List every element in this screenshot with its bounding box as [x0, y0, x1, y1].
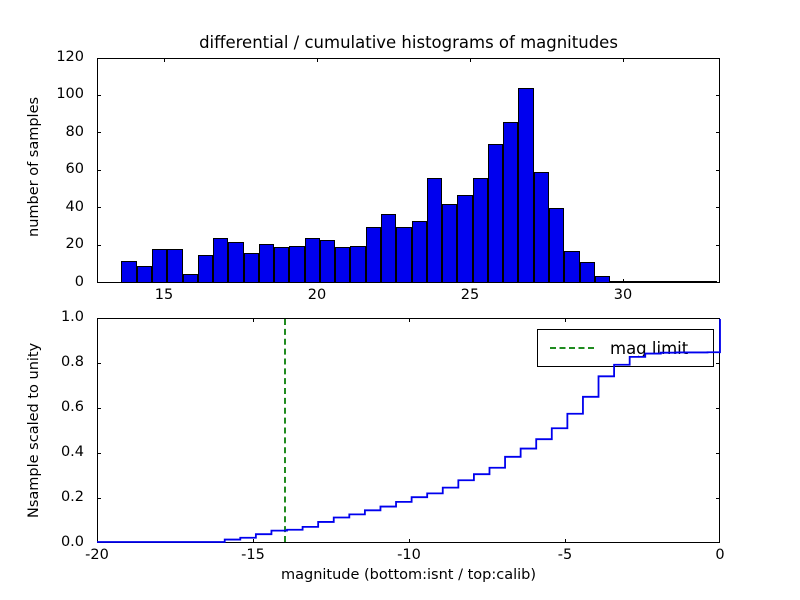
- histogram-bar: [595, 276, 610, 284]
- legend-label-mag-limit: mag limit: [610, 339, 688, 358]
- top-ytick-mark-20: [97, 245, 101, 246]
- histogram-bar: [686, 281, 701, 283]
- top-xtick-mark-15-top: [164, 58, 165, 62]
- bottom-xtick-m15: -15: [223, 547, 283, 563]
- histogram-bar: [457, 195, 472, 283]
- histogram-bar: [534, 172, 549, 283]
- histogram-bar: [641, 281, 656, 283]
- top-ytick-80: 80: [40, 124, 84, 140]
- histogram-bar: [488, 144, 503, 283]
- histogram-bar: [610, 281, 625, 283]
- mag-limit-dash-icon: [550, 347, 594, 349]
- histogram-bar: [335, 247, 350, 283]
- bottom-ytick-mark-right-02: [716, 498, 720, 499]
- top-ytick-mark-right-60: [716, 170, 720, 171]
- bottom-xtick-mark-m15-top: [253, 318, 254, 322]
- bottom-xtick-mark-m10-top: [409, 318, 410, 322]
- top-ytick-mark-right-80: [716, 132, 720, 133]
- top-ytick-mark-right-100: [716, 95, 720, 96]
- bottom-ytick-08: 0.8: [34, 354, 84, 370]
- bottom-ytick-mark-08: [97, 363, 101, 364]
- top-xtick-mark-30-top: [623, 58, 624, 62]
- histogram-bar: [580, 262, 595, 283]
- bottom-ytick-mark-right-08: [716, 363, 720, 364]
- histogram-bar: [244, 253, 259, 283]
- bottom-ytick-mark-04: [97, 453, 101, 454]
- chart-title: differential / cumulative histograms of …: [97, 33, 720, 52]
- bottom-xtick-m10: -10: [379, 547, 439, 563]
- histogram-bar: [427, 178, 442, 283]
- histogram-bar: [503, 122, 518, 283]
- top-xtick-30: 30: [593, 287, 653, 303]
- histogram-bar: [671, 281, 686, 283]
- bottom-xtick-mark-m5-top: [565, 318, 566, 322]
- bottom-ytick-06: 0.6: [34, 399, 84, 415]
- histogram-bar: [228, 242, 243, 283]
- bottom-xtick-m5: -5: [535, 547, 595, 563]
- top-ytick-mark-60: [97, 170, 101, 171]
- histogram-bar: [121, 261, 136, 284]
- histogram-bar: [564, 251, 579, 283]
- histogram-bar: [702, 281, 717, 283]
- histogram-bar: [137, 266, 152, 283]
- histogram-bar: [442, 204, 457, 283]
- top-xtick-mark-20-top: [317, 58, 318, 62]
- histogram-bar: [381, 214, 396, 283]
- histogram-bar: [549, 208, 564, 283]
- legend[interactable]: mag limit: [537, 329, 714, 367]
- histogram-bar: [259, 244, 274, 283]
- top-ytick-0: 0: [40, 274, 84, 290]
- bottom-xtick-m20: -20: [67, 547, 127, 563]
- top-ytick-60: 60: [40, 161, 84, 177]
- histogram-bar: [350, 246, 365, 284]
- top-xtick-25: 25: [440, 287, 500, 303]
- histogram-bar: [518, 88, 533, 283]
- bottom-ytick-04: 0.4: [34, 444, 84, 460]
- bottom-xtick-0: 0: [690, 547, 750, 563]
- top-xtick-20: 20: [287, 287, 347, 303]
- top-ytick-40: 40: [40, 199, 84, 215]
- histogram-bar: [289, 246, 304, 284]
- histogram-bar: [396, 227, 411, 283]
- bottom-xtick-mark-m5: [565, 539, 566, 543]
- top-ytick-mark-right-40: [716, 207, 720, 208]
- mag-limit-line: [284, 319, 286, 542]
- histogram-bar: [183, 274, 198, 283]
- top-ytick-mark-right-20: [716, 245, 720, 246]
- bottom-xtick-mark-m10: [409, 539, 410, 543]
- histogram-bar: [152, 249, 167, 283]
- histogram-bar: [625, 281, 640, 283]
- histogram-bar: [198, 255, 213, 283]
- histogram-bar: [412, 221, 427, 283]
- figure-canvas: differential / cumulative histograms of …: [0, 0, 800, 600]
- top-ytick-100: 100: [40, 86, 84, 102]
- histogram-bar: [213, 238, 228, 283]
- top-ytick-mark-40: [97, 207, 101, 208]
- bottom-x-axis-label: magnitude (bottom:isnt / top:calib): [97, 567, 720, 583]
- bottom-ytick-mark-right-04: [716, 453, 720, 454]
- histogram-bar: [473, 178, 488, 283]
- top-ytick-20: 20: [40, 236, 84, 252]
- top-ytick-120: 120: [40, 49, 84, 65]
- top-xtick-mark-25-top: [470, 58, 471, 62]
- bottom-ytick-02: 0.2: [34, 489, 84, 505]
- bottom-ytick-mark-06: [97, 408, 101, 409]
- bottom-ytick-mark-right-06: [716, 408, 720, 409]
- histogram-bar: [366, 227, 381, 283]
- histogram-bar: [320, 240, 335, 283]
- bottom-ytick-mark-02: [97, 498, 101, 499]
- top-ytick-mark-100: [97, 95, 101, 96]
- top-xtick-15: 15: [134, 287, 194, 303]
- histogram-bar: [305, 238, 320, 283]
- bottom-xtick-mark-m15: [253, 539, 254, 543]
- histogram-bar: [167, 249, 182, 283]
- bottom-ytick-10: 1.0: [34, 309, 84, 325]
- histogram-bar: [656, 281, 671, 283]
- histogram-bar: [274, 247, 289, 283]
- top-ytick-mark-0: [97, 282, 101, 283]
- top-ytick-mark-80: [97, 132, 101, 133]
